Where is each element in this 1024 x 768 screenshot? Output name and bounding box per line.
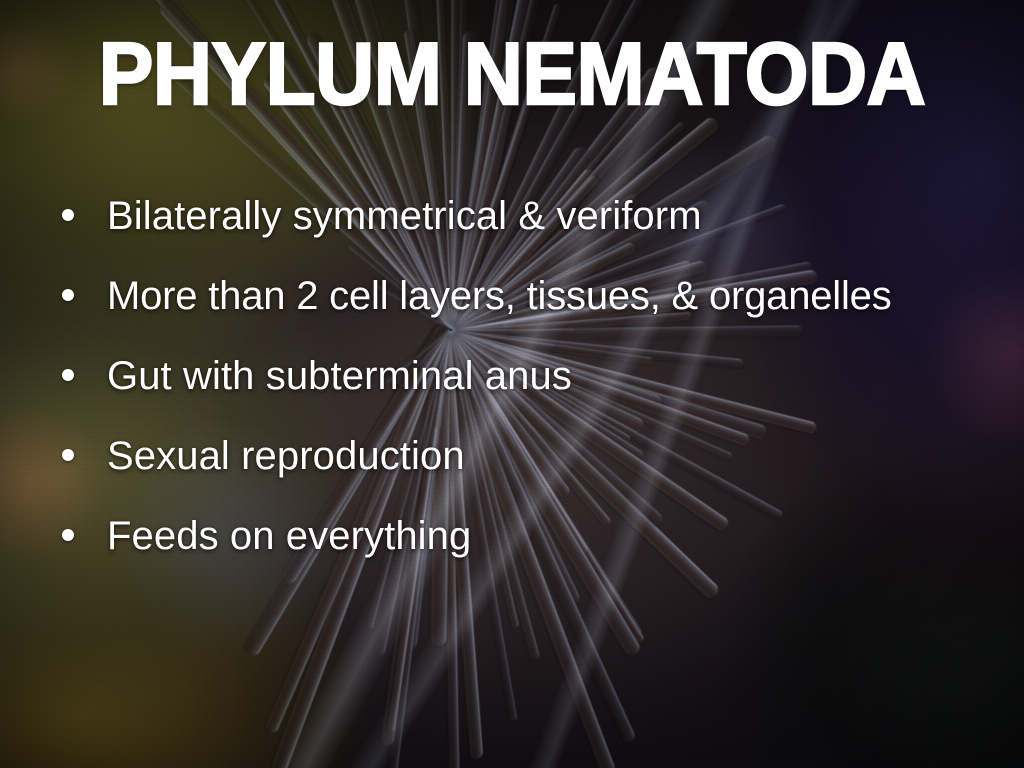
bullet-item-2: More than 2 cell layers, tissues, & orga… — [62, 276, 1006, 356]
presentation-slide: PHYLUM NEMATODA Bilaterally symmetrical … — [0, 0, 1024, 768]
bullet-text-3: Gut with subterminal anus — [107, 356, 572, 396]
bullet-item-1: Bilaterally symmetrical & veriform — [62, 196, 1006, 276]
bullet-item-3: Gut with subterminal anus — [62, 356, 1006, 436]
bullet-dot-icon — [62, 529, 74, 541]
bullet-item-4: Sexual reproduction — [62, 436, 1006, 516]
bullet-item-5: Feeds on everything — [62, 516, 1006, 596]
bullet-dot-icon — [62, 209, 74, 221]
bullet-text-4: Sexual reproduction — [107, 436, 465, 476]
bullet-dot-icon — [62, 449, 74, 461]
bullet-dot-icon — [62, 369, 74, 381]
bullet-dot-icon — [62, 289, 74, 301]
slide-content: PHYLUM NEMATODA Bilaterally symmetrical … — [0, 0, 1024, 768]
bullet-list: Bilaterally symmetrical & veriform More … — [62, 196, 1006, 596]
slide-title: PHYLUM NEMATODA — [36, 30, 988, 118]
bullet-text-2: More than 2 cell layers, tissues, & orga… — [107, 276, 892, 316]
bullet-text-1: Bilaterally symmetrical & veriform — [107, 196, 702, 236]
bullet-text-5: Feeds on everything — [107, 516, 471, 556]
